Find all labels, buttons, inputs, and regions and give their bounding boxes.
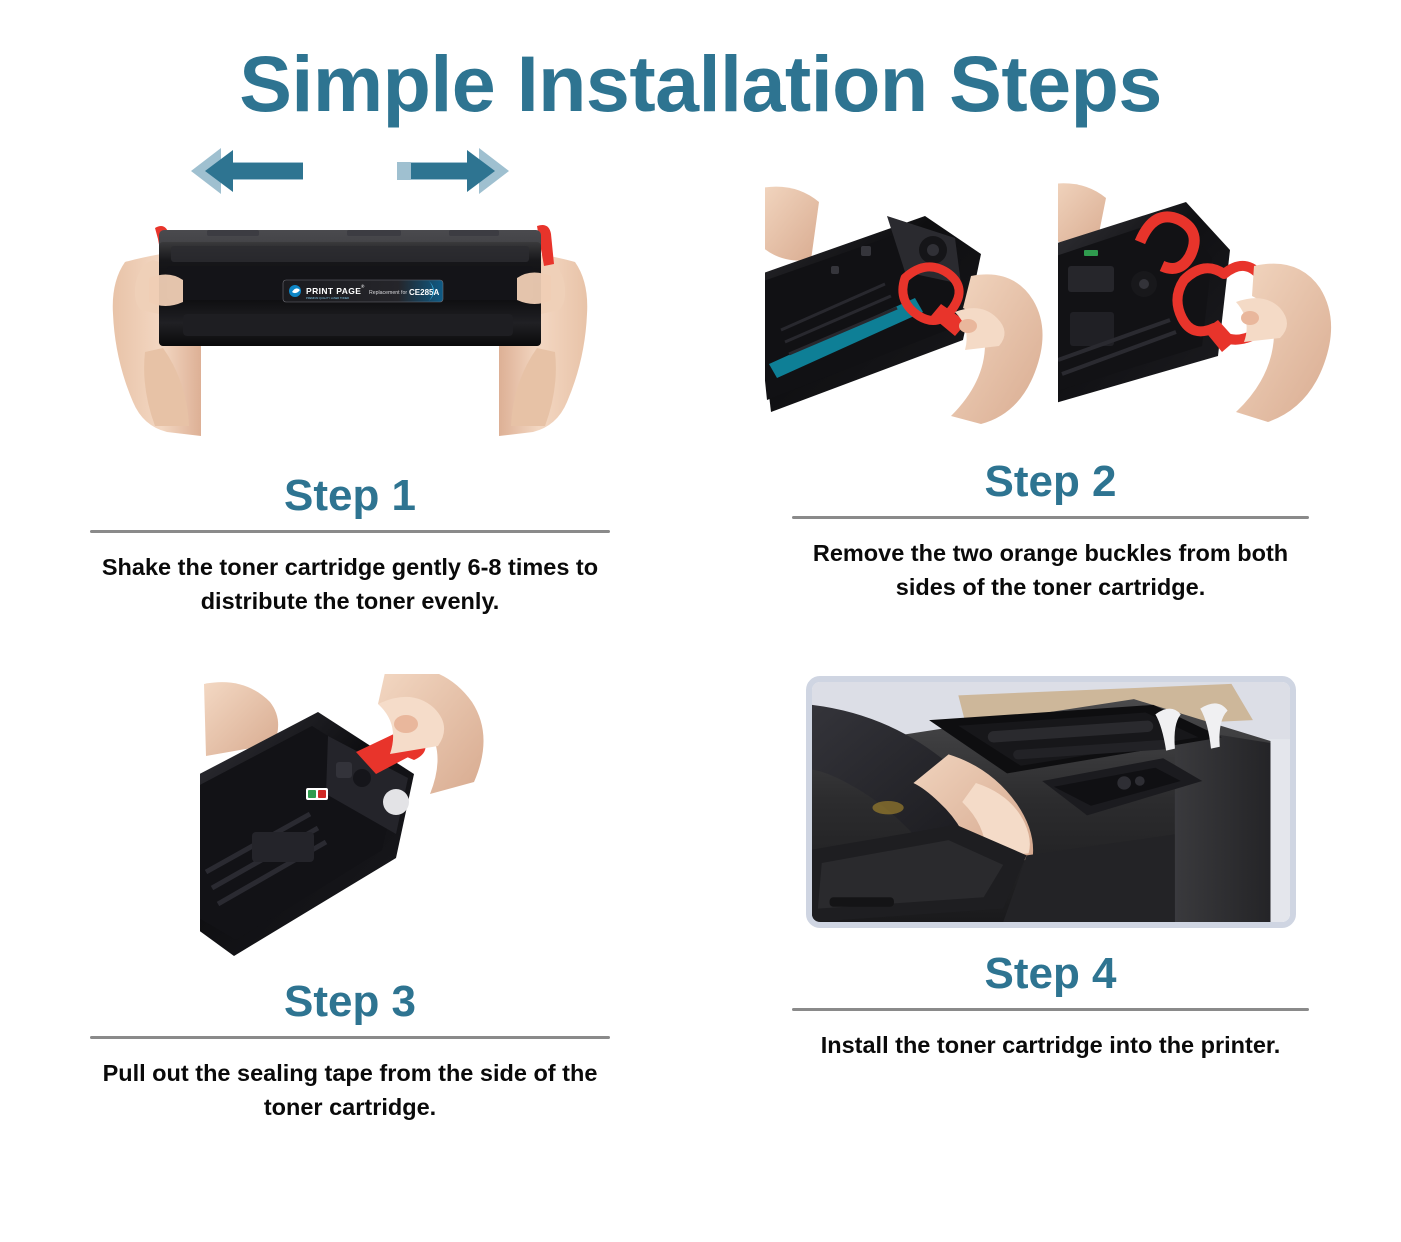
step-3-title: Step 3 [284,978,416,1026]
step-2-divider [792,516,1309,519]
steps-grid: PRINT PAGE ® PREMIUM QUALITY LASER TONER… [0,140,1401,1172]
step-1-divider [90,530,610,533]
shake-arrows [185,146,515,198]
step-3-divider [90,1036,610,1039]
svg-text:PRINT PAGE: PRINT PAGE [306,286,361,296]
step-card-2: Step 2 Remove the two orange buckles fro… [700,140,1401,656]
step-4-title: Step 4 [984,950,1116,998]
step-card-1: PRINT PAGE ® PREMIUM QUALITY LASER TONER… [0,140,700,656]
step-2-photo-left [765,180,1044,434]
step-2-text: Step 2 Remove the two orange buckles fro… [791,458,1311,604]
step-4-divider [792,1008,1309,1011]
svg-text:CE285A: CE285A [409,288,439,297]
step-1-photo: PRINT PAGE ® PREMIUM QUALITY LASER TONER… [97,206,603,460]
step-2-description: Remove the two orange buckles from both … [791,537,1311,604]
step-3-photo [200,674,500,964]
svg-text:PREMIUM QUALITY LASER TONER: PREMIUM QUALITY LASER TONER [306,296,349,300]
step-1-description: Shake the toner cartridge gently 6-8 tim… [90,551,610,618]
step-card-4: Step 4 Install the toner cartridge into … [700,656,1401,1172]
arrow-left-icon [185,146,303,196]
step-4-text: Step 4 Install the toner cartridge into … [791,950,1311,1063]
arrow-right-icon [397,146,515,196]
step-3-text: Step 3 Pull out the sealing tape from th… [90,978,610,1124]
step-4-photo [806,676,1296,928]
step-card-3: Step 3 Pull out the sealing tape from th… [0,656,700,1172]
svg-text:Replacement for: Replacement for [369,290,407,296]
step-1-text: Step 1 Shake the toner cartridge gently … [90,472,610,618]
step-2-title: Step 2 [984,458,1116,506]
page-title: Simple Installation Steps [0,0,1401,123]
step-3-description: Pull out the sealing tape from the side … [90,1057,610,1124]
step-2-photo-right [1058,180,1337,434]
step-2-photo-row [765,180,1337,434]
step-4-description: Install the toner cartridge into the pri… [791,1029,1311,1062]
step-1-title: Step 1 [284,472,416,520]
